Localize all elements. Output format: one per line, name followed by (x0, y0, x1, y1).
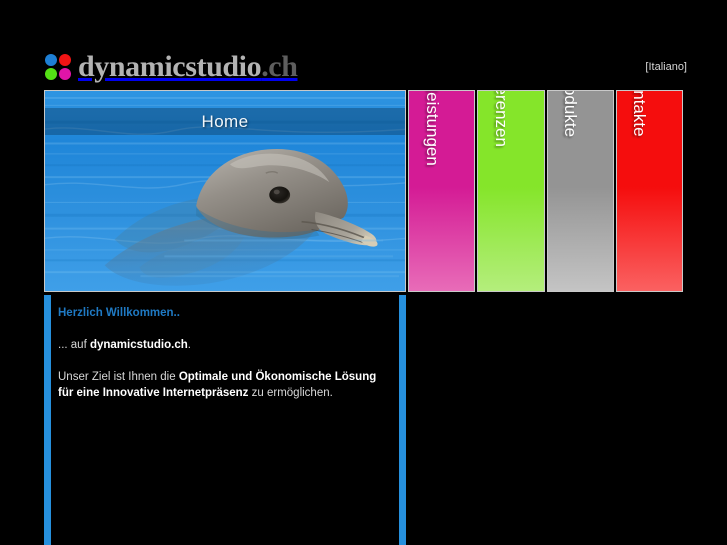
mission-paragraph: Unser Ziel ist Ihnen die Optimale und Ök… (58, 369, 390, 401)
intro-paragraph: ... auf dynamicstudio.ch. (58, 337, 390, 353)
content-accent-rail-left (44, 295, 51, 545)
nav-tab-label: Produkte (560, 90, 580, 137)
nav-tab-label: Kontakte (629, 90, 649, 137)
nav-tab-referenzen[interactable]: Referenzen (477, 90, 544, 292)
logo-dot-green (45, 68, 57, 80)
logo-name-text: dynamicstudio (78, 50, 261, 83)
content-area: Herzlich Willkommen.. ... auf dynamicstu… (44, 295, 406, 545)
site-logo[interactable]: dynamicstudio.ch (45, 50, 298, 84)
nav-tab-produkte[interactable]: Produkte (547, 90, 614, 292)
nav-tab-dienstleistungen[interactable]: Dienstleistungen (408, 90, 475, 292)
banner-row: Home Dienstleistungen Referenzen Produkt… (44, 90, 683, 292)
nav-tab-label: Dienstleistungen (422, 90, 442, 166)
intro-site-name: dynamicstudio.ch (90, 339, 188, 351)
mission-prefix: Unser Ziel ist Ihnen die (58, 371, 179, 383)
logo-tld-text: .ch (261, 50, 297, 83)
logo-wordmark: dynamicstudio.ch (78, 52, 298, 82)
logo-dot-blue (45, 54, 57, 66)
four-dots-logo-icon (45, 54, 71, 80)
hero-title-bar: Home (45, 108, 405, 135)
intro-suffix: . (188, 339, 191, 351)
logo-dot-red (59, 54, 71, 66)
intro-prefix: ... auf (58, 339, 90, 351)
mission-suffix: zu ermöglichen. (248, 387, 332, 399)
page-title: Home (202, 112, 249, 132)
page-header: dynamicstudio.ch [Italiano] (0, 0, 727, 90)
content-accent-rail-right (399, 295, 406, 545)
main-navigation: Dienstleistungen Referenzen Produkte Kon… (408, 90, 683, 292)
nav-tab-kontakte[interactable]: Kontakte (616, 90, 683, 292)
welcome-heading: Herzlich Willkommen.. (58, 305, 390, 321)
hero-image: Home (44, 90, 406, 292)
content-text-block: Herzlich Willkommen.. ... auf dynamicstu… (58, 295, 390, 401)
language-switch-link[interactable]: [Italiano] (645, 61, 687, 73)
logo-dot-magenta (59, 68, 71, 80)
nav-tab-label: Referenzen (491, 90, 511, 147)
